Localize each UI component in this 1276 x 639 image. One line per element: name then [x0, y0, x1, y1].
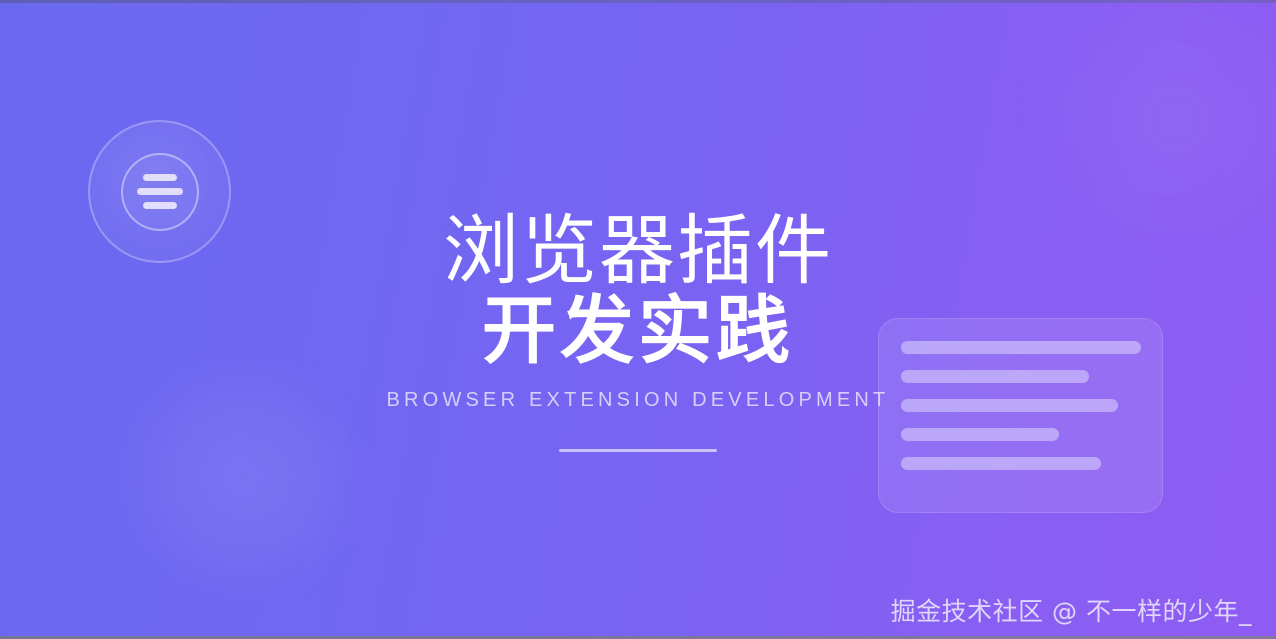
- doc-placeholder-line: [901, 457, 1101, 470]
- title-divider: [559, 449, 717, 452]
- title-line-primary: 浏览器插件: [0, 208, 1276, 294]
- subtitle-english: BROWSER EXTENSION DEVELOPMENT: [0, 388, 1276, 412]
- watermark-credit: 掘金技术社区 @ 不一样的少年_: [891, 597, 1252, 627]
- headline-block: 浏览器插件 开发实践 BROWSER EXTENSION DEVELOPMENT: [0, 208, 1276, 452]
- poster-canvas: 浏览器插件 开发实践 BROWSER EXTENSION DEVELOPMENT…: [0, 0, 1276, 639]
- title-line-secondary: 开发实践: [0, 290, 1276, 372]
- menu-line-1: [143, 174, 177, 181]
- menu-line-2: [137, 188, 183, 195]
